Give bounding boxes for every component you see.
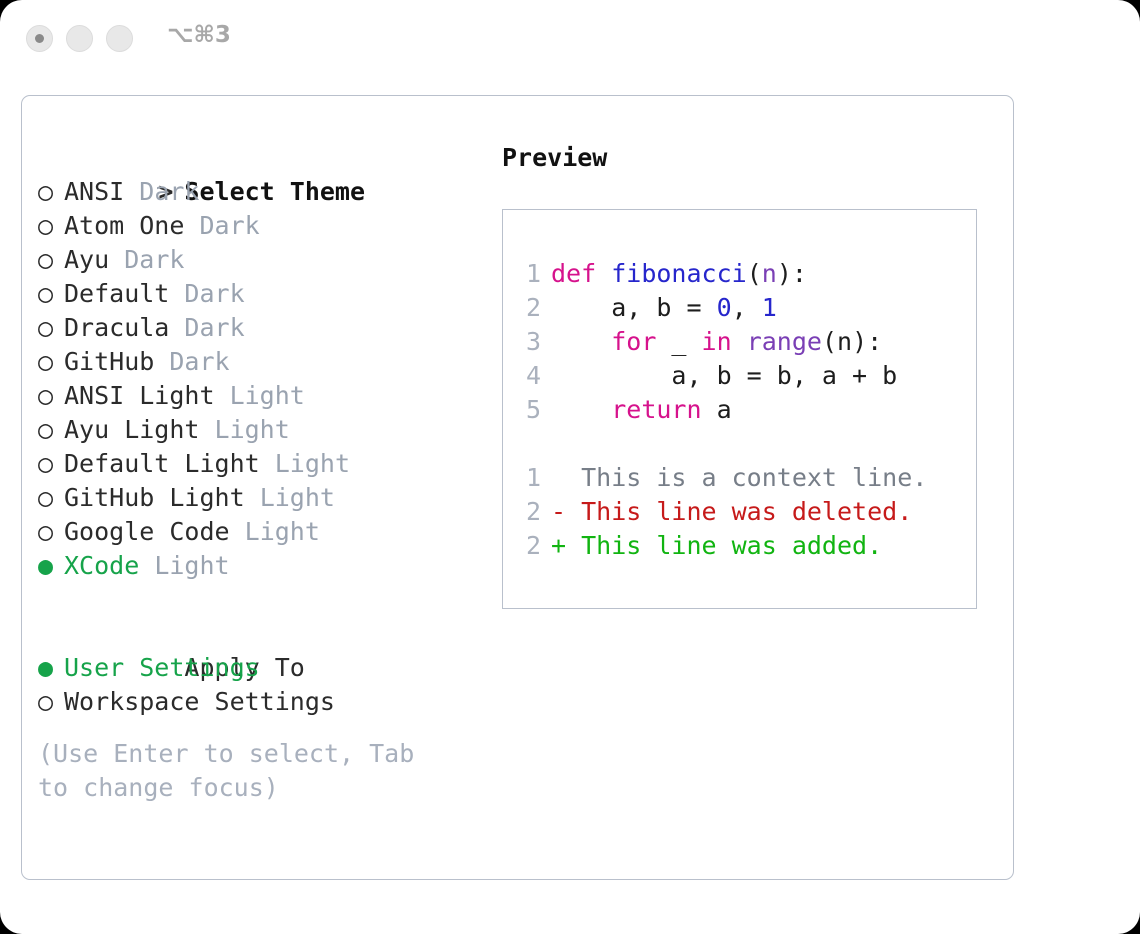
- line-number: 1: [515, 461, 541, 495]
- code-token: for: [611, 327, 656, 356]
- code-token: [551, 395, 611, 424]
- code-token: ,: [732, 293, 762, 322]
- code-token: [596, 259, 611, 288]
- spacer: [215, 381, 230, 410]
- window-button-maximize[interactable]: [106, 25, 133, 52]
- code-token: in: [702, 327, 732, 356]
- theme-option-google-code[interactable]: ○Google Code Light: [38, 515, 478, 549]
- theme-option-name: Default: [64, 279, 169, 308]
- keyboard-shortcut-label: ⌥⌘3: [167, 22, 231, 48]
- diff-sample: 1 This is a context line.2- This line wa…: [515, 461, 976, 563]
- radio-unselected-icon: ○: [38, 447, 64, 481]
- select-theme-header: >Select Theme: [38, 141, 478, 175]
- apply-to-option-workspace-settings[interactable]: ○Workspace Settings: [38, 685, 478, 719]
- code-token: 0: [717, 293, 732, 322]
- spacer: [139, 551, 154, 580]
- diff-line: 2+ This line was added.: [515, 529, 976, 563]
- spacer: [230, 517, 245, 546]
- code-token: return: [611, 395, 701, 424]
- theme-option-ansi-light[interactable]: ○ANSI Light Light: [38, 379, 478, 413]
- theme-option-name: Ayu: [64, 245, 109, 274]
- radio-unselected-icon: ○: [38, 685, 64, 719]
- theme-option-xcode[interactable]: ●XCode Light: [38, 549, 478, 583]
- code-token: a, b = b, a + b: [551, 361, 897, 390]
- window-button-close[interactable]: [26, 25, 53, 52]
- theme-option-name: ANSI Light: [64, 381, 215, 410]
- theme-option-kind: Dark: [169, 347, 229, 376]
- diff-sign: +: [551, 531, 566, 560]
- apply-to-option-user-settings[interactable]: ●User Settings: [38, 651, 478, 685]
- theme-option-ayu[interactable]: ○Ayu Dark: [38, 243, 478, 277]
- theme-option-name: Google Code: [64, 517, 230, 546]
- theme-option-kind: Light: [260, 483, 335, 512]
- diff-text: This line was added.: [566, 531, 882, 560]
- diff-text: This is a context line.: [566, 463, 927, 492]
- theme-option-github[interactable]: ○GitHub Dark: [38, 345, 478, 379]
- preview-column: Preview 1def fibonacci(n):2 a, b = 0, 13…: [502, 141, 992, 609]
- code-token: ):: [777, 259, 807, 288]
- line-number: 2: [515, 291, 541, 325]
- code-token: (: [747, 259, 762, 288]
- code-token: [551, 327, 611, 356]
- theme-option-name: Ayu Light: [64, 415, 199, 444]
- spacer: [260, 449, 275, 478]
- theme-option-atom-one[interactable]: ○Atom One Dark: [38, 209, 478, 243]
- theme-option-name: Default Light: [64, 449, 260, 478]
- theme-option-kind: Dark: [184, 313, 244, 342]
- spacer: [169, 313, 184, 342]
- spacer: [169, 279, 184, 308]
- window-button-minimize[interactable]: [66, 25, 93, 52]
- apply-to-option-list: ●User Settings○Workspace Settings: [38, 651, 478, 719]
- title-bar: ⌥⌘3: [0, 0, 1140, 78]
- preview-title: Preview: [502, 141, 992, 175]
- line-number: 2: [515, 529, 541, 563]
- theme-option-name: GitHub Light: [64, 483, 245, 512]
- theme-option-kind: Dark: [139, 177, 199, 206]
- keyboard-hint-text: (Use Enter to select, Tab to change focu…: [38, 737, 458, 805]
- code-line: 2 a, b = 0, 1: [515, 291, 976, 325]
- spacer: [154, 347, 169, 376]
- theme-option-name: GitHub: [64, 347, 154, 376]
- theme-option-kind: Light: [154, 551, 229, 580]
- theme-option-name: XCode: [64, 551, 139, 580]
- radio-selected-icon: ●: [38, 549, 64, 583]
- code-token: (n):: [822, 327, 882, 356]
- code-sample: 1def fibonacci(n):2 a, b = 0, 13 for _ i…: [515, 257, 976, 427]
- radio-unselected-icon: ○: [38, 413, 64, 447]
- code-token: fibonacci: [611, 259, 746, 288]
- window-button-close-dot: [35, 34, 44, 43]
- apply-to-header: Apply To: [38, 617, 478, 651]
- code-token: range: [747, 327, 822, 356]
- diff-sign: [551, 463, 566, 492]
- code-token: 1: [762, 293, 777, 322]
- code-token: a, b =: [551, 293, 717, 322]
- theme-option-kind: Light: [245, 517, 320, 546]
- theme-option-kind: Light: [230, 381, 305, 410]
- radio-unselected-icon: ○: [38, 175, 64, 209]
- theme-option-kind: Dark: [199, 211, 259, 240]
- diff-line: 2- This line was deleted.: [515, 495, 976, 529]
- theme-option-name: ANSI: [64, 177, 124, 206]
- section-spacer: [38, 583, 478, 617]
- theme-option-name: Dracula: [64, 313, 169, 342]
- radio-unselected-icon: ○: [38, 515, 64, 549]
- preview-box: 1def fibonacci(n):2 a, b = 0, 13 for _ i…: [502, 209, 977, 609]
- radio-unselected-icon: ○: [38, 379, 64, 413]
- preview-spacer: [515, 427, 976, 461]
- theme-option-list: ○ANSI Dark○Atom One Dark○Ayu Dark○Defaul…: [38, 175, 478, 583]
- select-theme-header-label: Select Theme: [184, 177, 365, 206]
- spacer: [199, 415, 214, 444]
- diff-text: This line was deleted.: [566, 497, 912, 526]
- theme-picker-panel: >Select Theme ○ANSI Dark○Atom One Dark○A…: [21, 95, 1014, 880]
- line-number: 3: [515, 325, 541, 359]
- theme-option-dracula[interactable]: ○Dracula Dark: [38, 311, 478, 345]
- theme-option-kind: Light: [275, 449, 350, 478]
- apply-to-option-label: Workspace Settings: [64, 687, 335, 716]
- spacer: [109, 245, 124, 274]
- theme-option-kind: Light: [215, 415, 290, 444]
- theme-option-default[interactable]: ○Default Dark: [38, 277, 478, 311]
- theme-option-name: Atom One: [64, 211, 184, 240]
- diff-line: 1 This is a context line.: [515, 461, 976, 495]
- radio-unselected-icon: ○: [38, 277, 64, 311]
- theme-option-kind: Dark: [124, 245, 184, 274]
- theme-selection-column: >Select Theme ○ANSI Dark○Atom One Dark○A…: [38, 141, 478, 805]
- line-number: 5: [515, 393, 541, 427]
- radio-unselected-icon: ○: [38, 345, 64, 379]
- code-line: 1def fibonacci(n):: [515, 257, 976, 291]
- line-number: 1: [515, 257, 541, 291]
- code-token: a: [702, 395, 732, 424]
- theme-option-ayu-light[interactable]: ○Ayu Light Light: [38, 413, 478, 447]
- app-window: ⌥⌘3 >Select Theme ○ANSI Dark○Atom One Da…: [0, 0, 1140, 934]
- radio-unselected-icon: ○: [38, 243, 64, 277]
- radio-unselected-icon: ○: [38, 209, 64, 243]
- theme-option-github-light[interactable]: ○GitHub Light Light: [38, 481, 478, 515]
- spacer: [245, 483, 260, 512]
- line-number: 2: [515, 495, 541, 529]
- code-line: 4 a, b = b, a + b: [515, 359, 976, 393]
- code-line: 5 return a: [515, 393, 976, 427]
- theme-option-kind: Dark: [184, 279, 244, 308]
- code-token: n: [762, 259, 777, 288]
- code-token: def: [551, 259, 596, 288]
- spacer: [184, 211, 199, 240]
- radio-unselected-icon: ○: [38, 311, 64, 345]
- radio-unselected-icon: ○: [38, 481, 64, 515]
- code-line: 3 for _ in range(n):: [515, 325, 976, 359]
- radio-selected-icon: ●: [38, 651, 64, 685]
- code-token: [732, 327, 747, 356]
- theme-option-default-light[interactable]: ○Default Light Light: [38, 447, 478, 481]
- line-number: 4: [515, 359, 541, 393]
- spacer: [124, 177, 139, 206]
- code-token: _: [656, 327, 701, 356]
- diff-sign: -: [551, 497, 566, 526]
- apply-to-option-label: User Settings: [64, 653, 260, 682]
